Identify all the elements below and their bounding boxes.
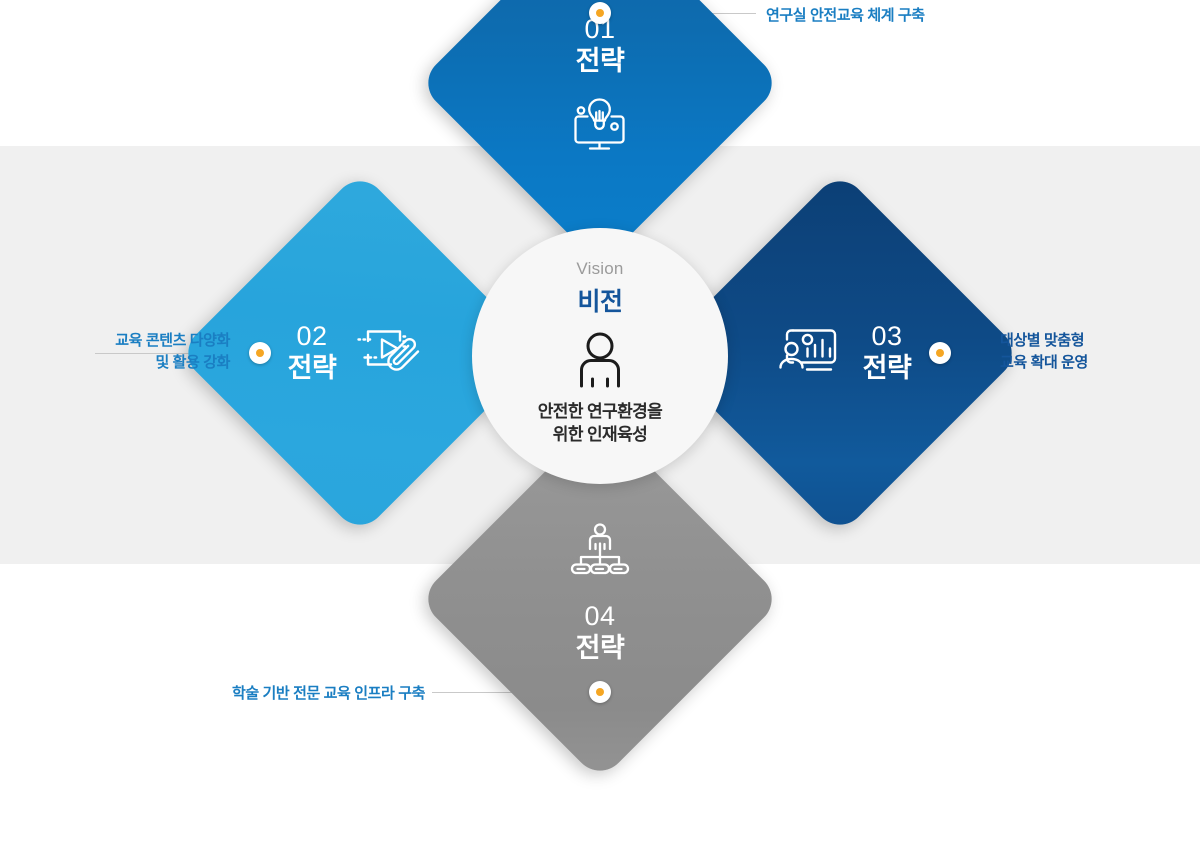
vision-circle[interactable]: Vision 비전 안전한 연구환경을 위한 인재육성	[472, 228, 728, 484]
strategy-number-02: 02	[296, 321, 327, 352]
vision-label-en: Vision	[576, 260, 623, 279]
callout-label-01: 연구실 안전교육 체계 구축	[766, 5, 925, 27]
strategy-word-04: 전략	[576, 632, 625, 664]
video-paperclip-icon	[354, 322, 424, 385]
strategy-number-04: 04	[584, 601, 615, 632]
vision-strategy-diagram: 01 전략	[0, 0, 1200, 708]
vision-description: 안전한 연구환경을 위한 인재육성	[538, 401, 662, 447]
org-chart-icon	[569, 522, 631, 581]
connector-dot-left[interactable]	[249, 342, 271, 364]
callout-label-03-line1: 대상별 맞춤형	[1000, 330, 1088, 352]
strategy-number-03: 03	[871, 321, 902, 352]
person-barchart-icon	[777, 323, 841, 384]
strategy-word-02: 전략	[288, 352, 337, 384]
callout-label-02: 교육 콘텐츠 다양화 및 활용 강화	[0, 330, 230, 374]
connector-dot-right[interactable]	[929, 342, 951, 364]
callout-label-04: 학술 기반 전문 교육 인프라 구축	[0, 683, 425, 705]
person-icon	[573, 332, 627, 393]
strategy-word-01: 전략	[576, 45, 625, 77]
strategy-word-03: 전략	[863, 352, 912, 384]
connector-dot-top[interactable]	[589, 2, 611, 24]
monitor-lightbulb-icon	[569, 97, 631, 160]
vision-label-ko: 비전	[577, 282, 622, 318]
callout-label-02-line2: 및 활용 강화	[0, 352, 230, 374]
callout-label-03: 대상별 맞춤형 교육 확대 운영	[1000, 330, 1088, 374]
callout-label-02-line1: 교육 콘텐츠 다양화	[0, 330, 230, 352]
connector-dot-bottom[interactable]	[589, 681, 611, 703]
callout-label-03-line2: 교육 확대 운영	[1000, 352, 1088, 374]
